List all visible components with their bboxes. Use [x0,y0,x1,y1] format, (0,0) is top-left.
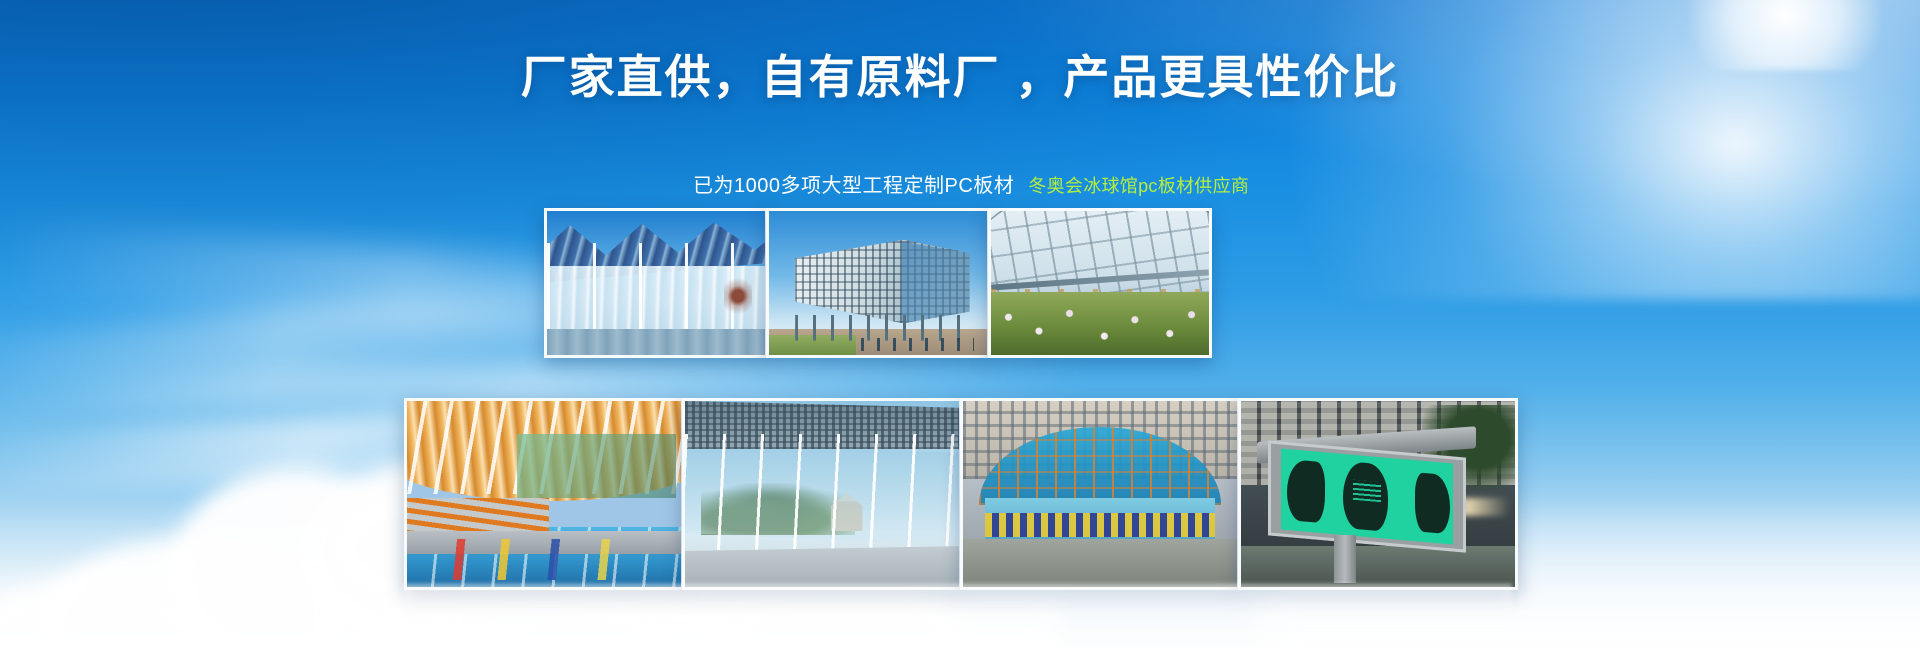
blue-pc-roof-shed-art [963,401,1237,587]
collage-photo-bus-stop-billboard[interactable] [1238,398,1518,590]
collage-photo-perforated-facade-building[interactable] [766,208,990,358]
banner-headline: 厂家直供，自有原料厂 ，产品更具性价比 [0,52,1920,103]
collage-photo-sound-barrier-glass-wall[interactable] [682,398,962,590]
sound-barrier-glass-wall-art [685,401,959,587]
greenhouse-interior-flowers-art [991,211,1209,355]
collage-reflection [404,584,1512,630]
bus-stop-billboard-art [1241,401,1515,587]
subtitle-highlight-text: 冬奥会冰球馆pc板材供应商 [1028,176,1249,196]
promo-banner: 厂家直供，自有原料厂 ，产品更具性价比 已为1000多项大型工程定制PC板材冬奥… [0,0,1920,648]
subtitle-main-text: 已为1000多项大型工程定制PC板材 [693,175,1014,197]
collage-photo-greenhouse-exterior[interactable] [544,208,768,358]
collage-photo-wooden-roof-swimming-pool[interactable] [404,398,684,590]
collage-photo-greenhouse-interior-flowers[interactable] [988,208,1212,358]
wooden-roof-swimming-pool-art [407,401,681,587]
perforated-facade-building-art [769,211,987,355]
greenhouse-exterior-art [547,211,765,355]
collage-photo-blue-pc-roof-shed[interactable] [960,398,1240,590]
